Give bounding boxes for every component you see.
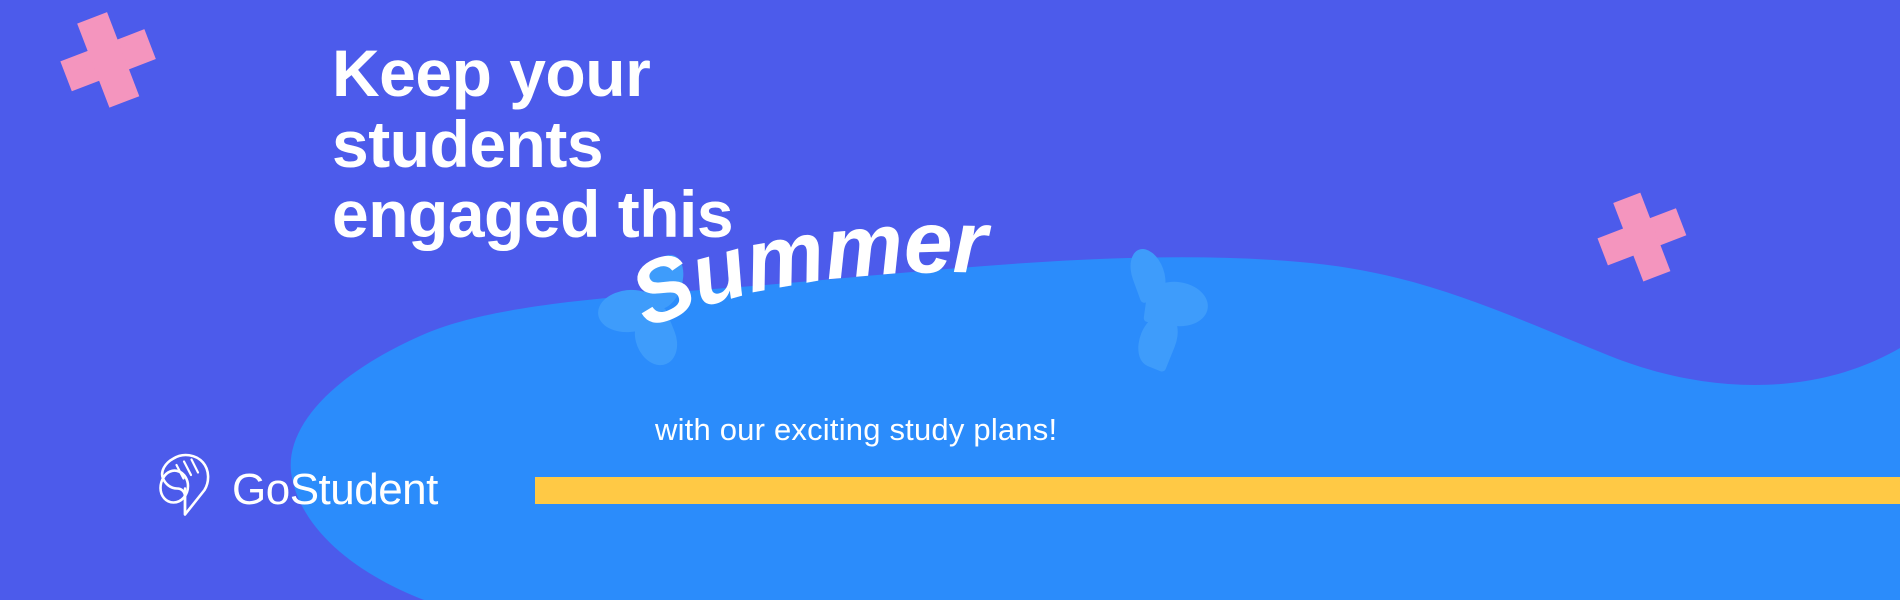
- brand-name-label: GoStudent: [232, 468, 438, 512]
- brand-logo[interactable]: GoStudent: [152, 452, 438, 528]
- headline: Keep your students engaged this: [332, 38, 1092, 250]
- promo-banner: Keep your students engaged this Summer w…: [0, 0, 1900, 600]
- gostudent-scroll-icon: [152, 452, 216, 528]
- yellow-rule: [535, 477, 1900, 504]
- subtitle: with our exciting study plans!: [655, 412, 1057, 448]
